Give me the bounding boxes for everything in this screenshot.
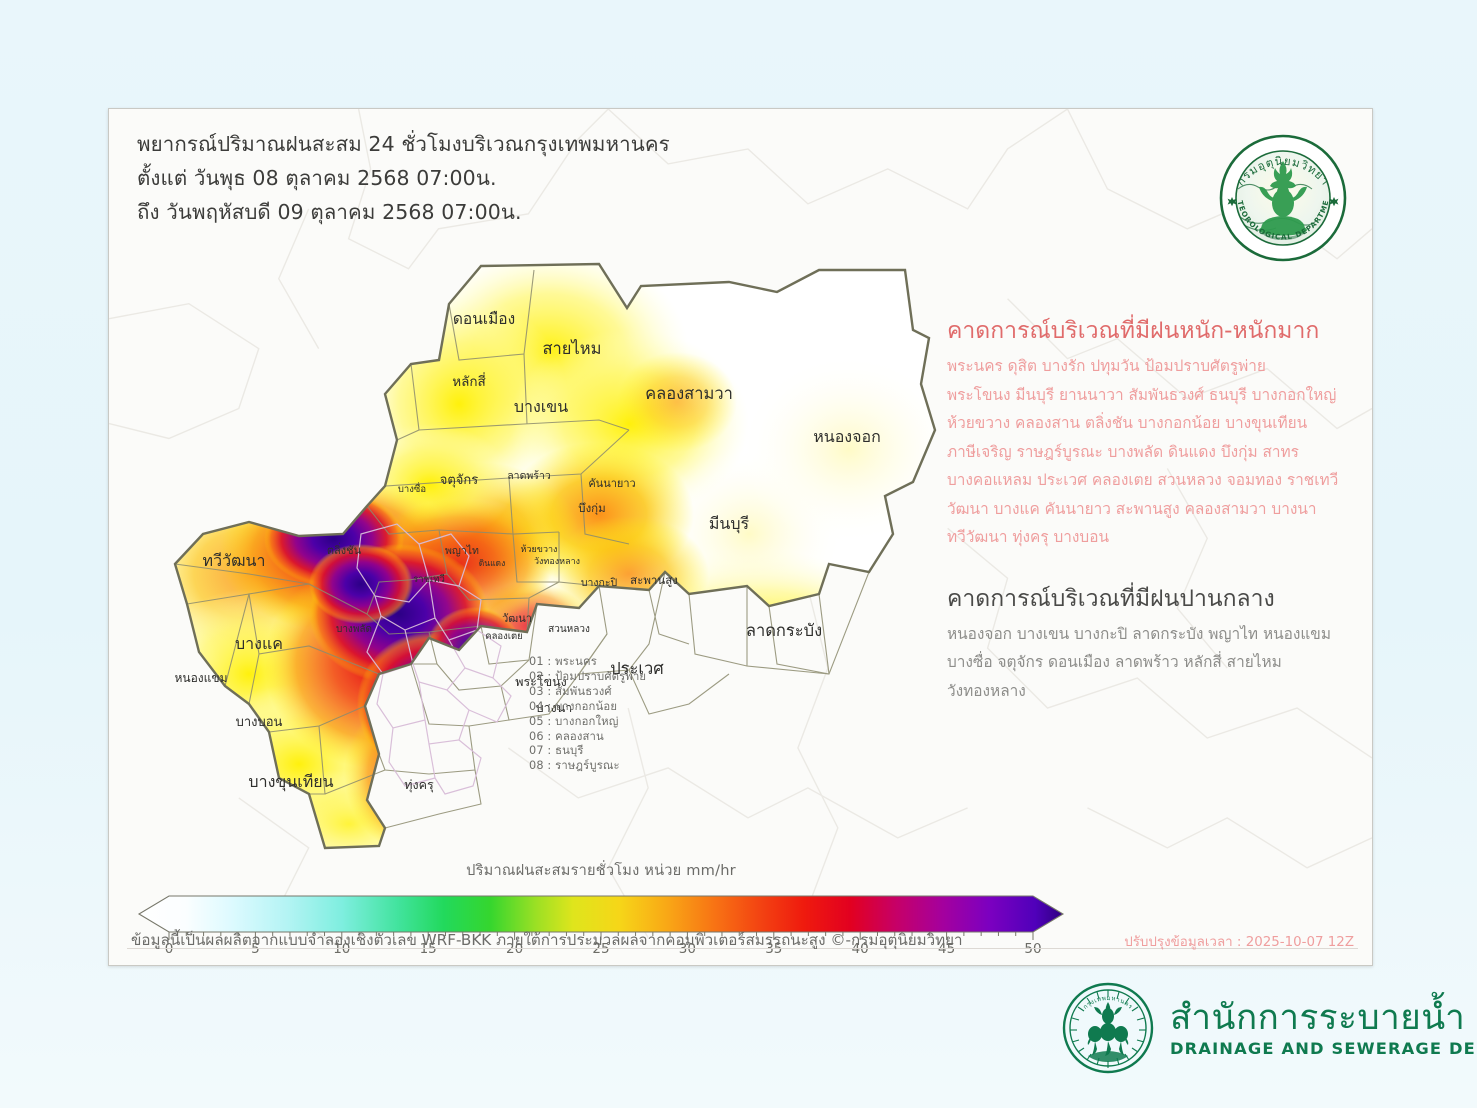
legend-item: 02 : ป้อมปราบศัตรูพ่าย bbox=[529, 670, 646, 685]
heavy-rain-line: พระนคร ดุสิต บางรัก ปทุมวัน ป้อมปราบศัตร… bbox=[947, 352, 1357, 381]
district-label: บางซื่อ bbox=[398, 482, 426, 495]
heavy-rain-line: พระโขนง มีนบุรี ยานนาวา สัมพันธวงศ์ ธนบุ… bbox=[947, 381, 1357, 410]
district-label: หลักสี่ bbox=[452, 372, 486, 390]
heavy-rain-district-list: พระนคร ดุสิต บางรัก ปทุมวัน ป้อมปราบศัตร… bbox=[947, 352, 1357, 552]
moderate-rain-line: หนองจอก บางเขน บางกะปิ ลาดกระบัง พญาไท ห… bbox=[947, 620, 1357, 649]
header-block: พยากรณ์ปริมาณฝนสะสม 24 ชั่วโมงบริเวณกรุง… bbox=[137, 127, 917, 229]
district-label: ทุ่งครุ bbox=[404, 777, 434, 793]
header-line-1: พยากรณ์ปริมาณฝนสะสม 24 ชั่วโมงบริเวณกรุง… bbox=[137, 127, 917, 161]
legend-item: 01 : พระนคร bbox=[529, 655, 646, 670]
district-label: จตุจักร bbox=[440, 473, 479, 488]
legend-item: 04 : บางกอกน้อย bbox=[529, 700, 646, 715]
heavy-rain-line: ภาษีเจริญ ราษฎร์บูรณะ บางพลัด ดินแดง บึง… bbox=[947, 438, 1357, 467]
brand-text: สำนักการระบายน้ำ DRAINAGE AND SEWERAGE D… bbox=[1170, 997, 1477, 1059]
district-label: หนองจอก bbox=[813, 427, 881, 446]
district-label: ดอนเมือง bbox=[453, 310, 515, 328]
colorbar-title: ปริมาณฝนสะสมรายชั่วโมง หน่วย mm/hr bbox=[137, 859, 1065, 882]
district-label: ตลิ่งชัน bbox=[327, 542, 362, 557]
heavy-rain-heading: คาดการณ์บริเวณที่มีฝนหนัก-หนักมาก bbox=[947, 314, 1357, 348]
legend-item: 05 : บางกอกใหญ่ bbox=[529, 715, 646, 730]
header-line-2: ตั้งแต่ วันพุธ 08 ตุลาคม 2568 07:00น. bbox=[137, 161, 917, 195]
legend-item: 03 : สัมพันธวงศ์ bbox=[529, 685, 646, 700]
drainage-department-seal-icon: กรุงเทพมหานคร bbox=[1062, 982, 1154, 1074]
legend-item: 07 : ธนบุรี bbox=[529, 744, 646, 759]
district-label: สะพานสูง bbox=[630, 573, 678, 587]
drainage-department-brand: กรุงเทพมหานคร สำนักการระบายน้ำ DRAINAGE … bbox=[1062, 982, 1477, 1074]
moderate-rain-line: วังทองหลาง bbox=[947, 677, 1357, 706]
district-label: สายไหม bbox=[542, 339, 601, 358]
district-label: วังทองหลาง bbox=[534, 557, 580, 567]
footer-source-text: ข้อมูลนี้เป็นผลผลิตจากแบบจำลองเชิงตัวเลข… bbox=[131, 928, 963, 952]
district-label: บางพลัด bbox=[336, 624, 372, 635]
district-label: บึงกุ่ม bbox=[578, 501, 605, 515]
moderate-rain-heading: คาดการณ์บริเวณที่มีฝนปานกลาง bbox=[947, 582, 1357, 616]
district-label: บางเขน bbox=[514, 397, 568, 416]
brand-thai-name: สำนักการระบายน้ำ bbox=[1170, 997, 1477, 1039]
header-line-3: ถึง วันพฤหัสบดี 09 ตุลาคม 2568 07:00น. bbox=[137, 195, 917, 229]
district-label: ดินแดง bbox=[479, 559, 505, 569]
district-label: ลาดพร้าว bbox=[507, 470, 551, 482]
map-card: พยากรณ์ปริมาณฝนสะสม 24 ชั่วโมงบริเวณกรุง… bbox=[108, 108, 1373, 966]
district-label: ทวีวัฒนา bbox=[203, 551, 266, 570]
meteorological-department-seal-icon: กรมอุตุนิยมวิทยา METEOROLOGICAL DEPARTME… bbox=[1216, 131, 1350, 265]
district-label: บางบอน bbox=[236, 715, 283, 730]
heavy-rain-line: ห้วยขวาง คลองสาน ตลิ่งชัน บางกอกน้อย บาง… bbox=[947, 409, 1357, 438]
district-label: บางกะปิ bbox=[581, 577, 618, 589]
heavy-rain-line: บางคอแหลม ประเวศ คลองเตย สวนหลวง จอมทอง … bbox=[947, 466, 1357, 495]
district-label: ห้วยขวาง bbox=[521, 544, 558, 555]
district-label: สวนหลวง bbox=[548, 624, 590, 635]
card-footer: ข้อมูลนี้เป็นผลผลิตจากแบบจำลองเชิงตัวเลข… bbox=[109, 925, 1372, 955]
district-label: หนองแขม bbox=[174, 671, 227, 685]
legend-item: 06 : คลองสาน bbox=[529, 730, 646, 745]
district-label: คลองเตย bbox=[485, 631, 523, 642]
heavy-rain-line: ทวีวัฒนา ทุ่งครุ บางบอน bbox=[947, 523, 1357, 552]
district-label: ราชเทวี bbox=[413, 573, 445, 585]
panel-spacer bbox=[947, 552, 1357, 582]
district-label: ลาดกระบัง bbox=[746, 621, 822, 640]
heavy-rain-line: วัฒนา บางแค คันนายาว สะพานสูง คลองสามวา … bbox=[947, 495, 1357, 524]
brand-english-name: DRAINAGE AND SEWERAGE DEPARTMENT bbox=[1170, 1039, 1477, 1059]
district-label: บางแค bbox=[235, 634, 283, 653]
legend-item: 08 : ราษฎร์บูรณะ bbox=[529, 759, 646, 774]
moderate-rain-line: บางซื่อ จตุจักร ดอนเมือง ลาดพร้าว หลักสี… bbox=[947, 648, 1357, 677]
moderate-rain-district-list: หนองจอก บางเขน บางกะปิ ลาดกระบัง พญาไท ห… bbox=[947, 620, 1357, 706]
footer-update-timestamp: ปรับปรุงข้อมูลเวลา : 2025-10-07 12Z bbox=[1124, 931, 1354, 952]
district-label: คลองสามวา bbox=[645, 384, 733, 403]
forecast-text-panel: คาดการณ์บริเวณที่มีฝนหนัก-หนักมาก พระนคร… bbox=[947, 314, 1357, 705]
district-label: คันนายาว bbox=[588, 477, 635, 490]
numbered-district-legend: 01 : พระนคร 02 : ป้อมปราบศัตรูพ่าย 03 : … bbox=[529, 655, 646, 774]
poster-page: พยากรณ์ปริมาณฝนสะสม 24 ชั่วโมงบริเวณกรุง… bbox=[0, 0, 1477, 1108]
district-label: บางขุนเทียน bbox=[248, 772, 333, 792]
district-label: พญาไท bbox=[445, 544, 479, 557]
district-label: มีนบุรี bbox=[709, 514, 750, 534]
district-label: วัฒนา bbox=[502, 612, 532, 625]
